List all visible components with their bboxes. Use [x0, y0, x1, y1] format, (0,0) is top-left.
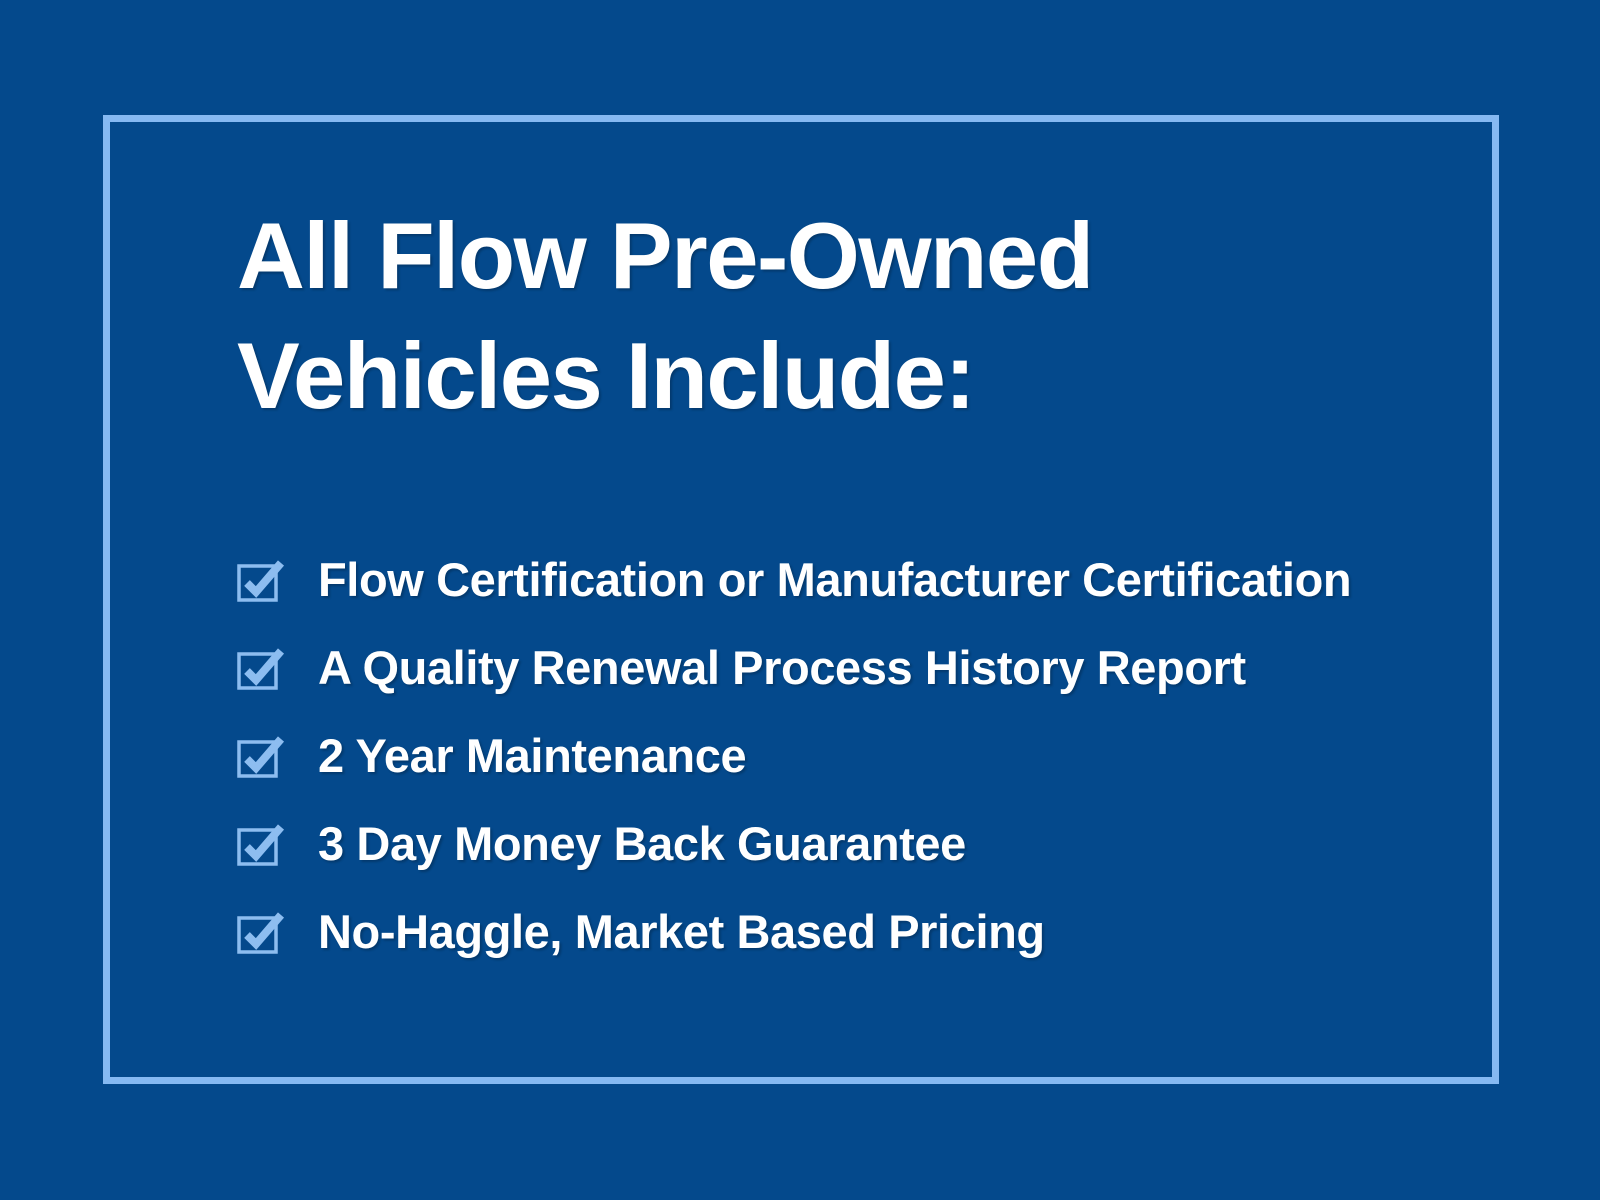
checkbox-checked-icon: [236, 909, 282, 955]
headline-block: All Flow Pre-Owned Vehicles Include:: [237, 196, 1457, 436]
list-item: No-Haggle, Market Based Pricing: [236, 888, 1351, 976]
page-title: All Flow Pre-Owned Vehicles Include:: [237, 196, 1457, 436]
list-item-label: No-Haggle, Market Based Pricing: [318, 906, 1045, 958]
checkbox-checked-icon: [236, 557, 282, 603]
checkbox-checked-icon: [236, 733, 282, 779]
list-item: 3 Day Money Back Guarantee: [236, 800, 1351, 888]
promo-poster: All Flow Pre-Owned Vehicles Include: Flo…: [0, 0, 1600, 1200]
checkbox-checked-icon: [236, 645, 282, 691]
list-item: A Quality Renewal Process History Report: [236, 624, 1351, 712]
list-item-label: 2 Year Maintenance: [318, 730, 746, 782]
list-item-label: Flow Certification or Manufacturer Certi…: [318, 554, 1351, 606]
list-item: 2 Year Maintenance: [236, 712, 1351, 800]
checkbox-checked-icon: [236, 821, 282, 867]
list-item-label: 3 Day Money Back Guarantee: [318, 818, 966, 870]
benefits-list: Flow Certification or Manufacturer Certi…: [236, 536, 1351, 976]
list-item-label: A Quality Renewal Process History Report: [318, 642, 1246, 694]
list-item: Flow Certification or Manufacturer Certi…: [236, 536, 1351, 624]
